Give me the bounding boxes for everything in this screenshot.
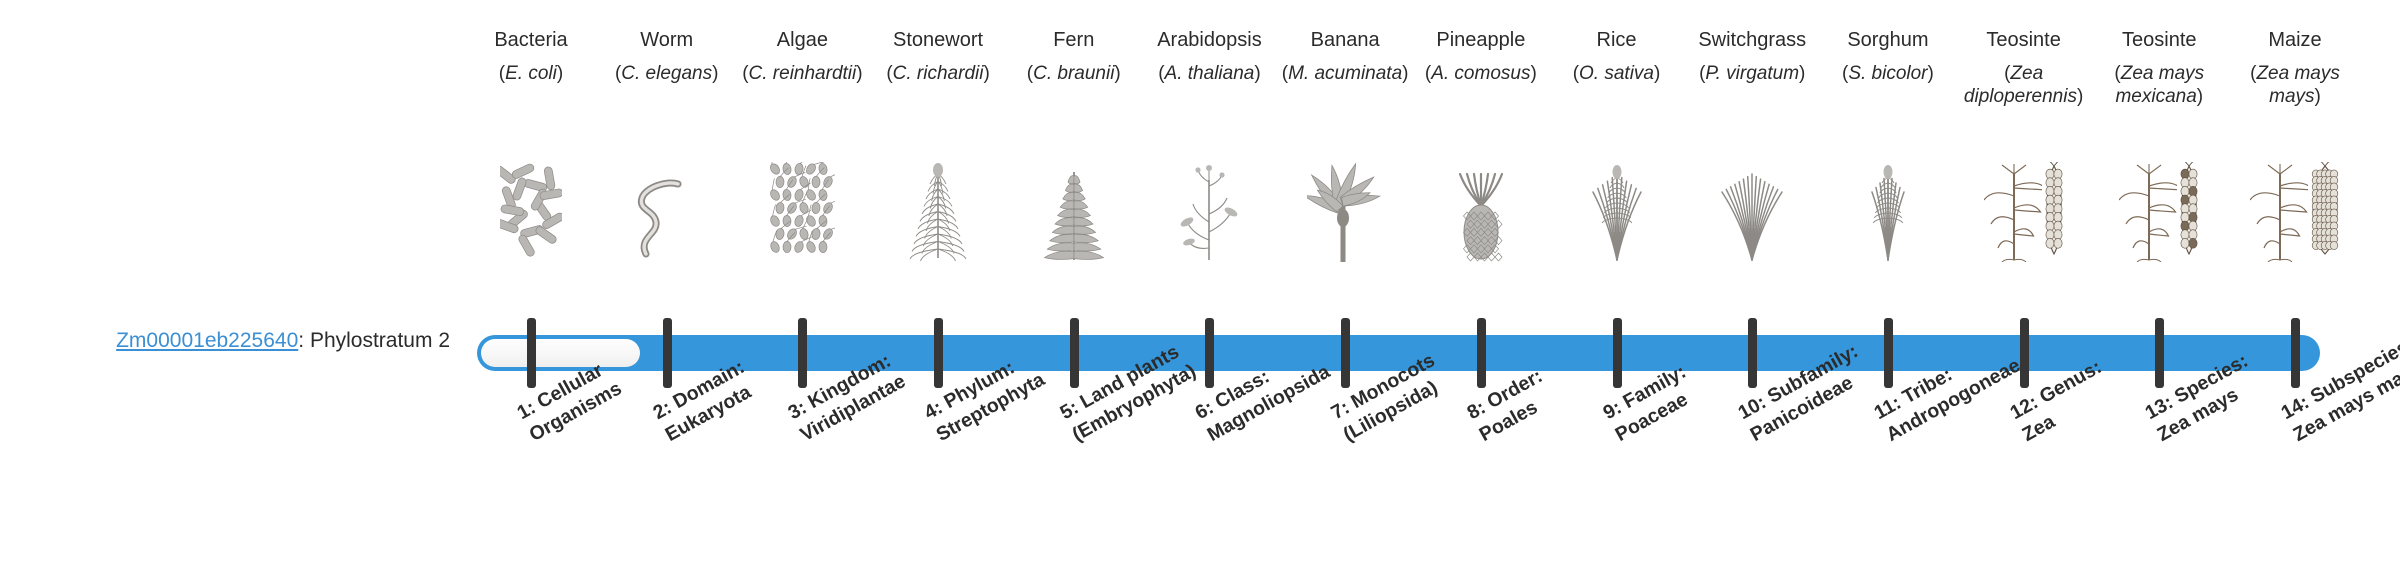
species-column-bacteria-1: Bacteria(E. coli)	[463, 28, 599, 85]
species-latin-name: (Zea mays mays)	[2227, 62, 2363, 108]
species-latin-text: O. sativa	[1579, 63, 1654, 84]
species-column-container: Bacteria(E. coli)Worm(C. elegans)Algae(C…	[0, 0, 2400, 580]
species-common-name: Algae	[734, 28, 870, 52]
species-column-rice-9: Rice(O. sativa)	[1549, 28, 1685, 85]
species-common-name: Rice	[1549, 28, 1685, 52]
phylostratum-timeline-figure: Zm00001eb225640: Phylostratum 2 Bacteria…	[0, 0, 2400, 580]
phylostratum-tick-2[interactable]	[663, 318, 672, 388]
species-common-name: Fern	[1006, 28, 1142, 52]
species-latin-text: C. elegans	[621, 63, 712, 84]
teosinte-mexicana-icon	[2091, 172, 2227, 262]
teosinte-diploperennis-icon	[1956, 172, 2092, 262]
maize-plant-icon	[2250, 162, 2308, 262]
phylostratum-tick-5[interactable]	[1070, 318, 1079, 388]
fern-icon	[1006, 172, 1142, 262]
maize-icon	[2227, 172, 2363, 262]
species-latin-text: Zea mays mays	[2256, 63, 2339, 107]
species-common-name: Maize	[2227, 28, 2363, 52]
species-common-name: Banana	[1277, 28, 1413, 52]
species-column-worm-2: Worm(C. elegans)	[599, 28, 735, 85]
species-common-name: Teosinte	[1956, 28, 2092, 52]
teosinte-plant-icon	[2119, 162, 2177, 262]
species-column-pineapple-8: Pineapple(A. comosus)	[1413, 28, 1549, 85]
species-latin-name: (C. elegans)	[599, 62, 735, 85]
species-common-name: Worm	[599, 28, 735, 52]
species-latin-name: (Zea mays mexicana)	[2091, 62, 2227, 108]
teosinte-ear-icon	[2044, 162, 2064, 262]
species-latin-name: (Zea diploperennis)	[1956, 62, 2092, 108]
species-latin-text: S. bicolor	[1848, 63, 1927, 84]
phylostratum-tick-8[interactable]	[1477, 318, 1486, 388]
species-latin-name: (S. bicolor)	[1820, 62, 1956, 85]
species-column-fern-5: Fern(C. braunii)	[1006, 28, 1142, 85]
species-latin-text: P. virgatum	[1705, 63, 1799, 84]
species-latin-text: C. richardii	[893, 63, 984, 84]
species-column-sorghum-11: Sorghum(S. bicolor)	[1820, 28, 1956, 85]
phylostratum-tick-3[interactable]	[798, 318, 807, 388]
species-latin-name: (C. reinhardtii)	[734, 62, 870, 85]
phylostratum-tick-9[interactable]	[1613, 318, 1622, 388]
banana-icon	[1277, 172, 1413, 262]
phylostratum-tick-12[interactable]	[2020, 318, 2029, 388]
switchgrass-icon	[1684, 172, 1820, 262]
phylostratum-tick-14[interactable]	[2291, 318, 2300, 388]
species-common-name: Pineapple	[1413, 28, 1549, 52]
species-latin-text: A. comosus	[1431, 63, 1530, 84]
species-latin-name: (E. coli)	[463, 62, 599, 85]
phylostratum-tick-7[interactable]	[1341, 318, 1350, 388]
species-latin-text: C. braunii	[1033, 63, 1114, 84]
arabidopsis-icon	[1141, 172, 1277, 262]
worm-icon	[599, 172, 735, 262]
phylostratum-tick-1[interactable]	[527, 318, 536, 388]
stonewort-icon	[870, 172, 1006, 262]
maize-ear-icon	[2310, 162, 2340, 262]
pineapple-icon	[1413, 172, 1549, 262]
species-column-teosinte-13: Teosinte(Zea mays mexicana)	[2091, 28, 2227, 108]
species-column-maize-14: Maize(Zea mays mays)	[2227, 28, 2363, 108]
species-latin-name: (P. virgatum)	[1684, 62, 1820, 85]
species-latin-name: (C. braunii)	[1006, 62, 1142, 85]
phylostratum-tick-11[interactable]	[1884, 318, 1893, 388]
species-common-name: Stonewort	[870, 28, 1006, 52]
species-latin-name: (A. comosus)	[1413, 62, 1549, 85]
phylostratum-tick-4[interactable]	[934, 318, 943, 388]
teosinte-ear-icon	[2179, 162, 2199, 262]
species-latin-text: Zea diploperennis	[1964, 63, 2077, 107]
bacteria-icon	[463, 172, 599, 262]
species-common-name: Teosinte	[2091, 28, 2227, 52]
species-latin-name: (C. richardii)	[870, 62, 1006, 85]
species-column-switchgrass-10: Switchgrass(P. virgatum)	[1684, 28, 1820, 85]
rice-icon	[1549, 172, 1685, 262]
species-column-algae-3: Algae(C. reinhardtii)	[734, 28, 870, 85]
algae-icon	[734, 172, 870, 262]
species-latin-name: (A. thaliana)	[1141, 62, 1277, 85]
species-column-teosinte-12: Teosinte(Zea diploperennis)	[1956, 28, 2092, 108]
species-latin-text: Zea mays mexicana	[2115, 63, 2204, 107]
phylostratum-tick-6[interactable]	[1205, 318, 1214, 388]
species-column-arabidopsis-6: Arabidopsis(A. thaliana)	[1141, 28, 1277, 85]
species-common-name: Bacteria	[463, 28, 599, 52]
species-column-stonewort-4: Stonewort(C. richardii)	[870, 28, 1006, 85]
sorghum-icon	[1820, 172, 1956, 262]
species-latin-name: (O. sativa)	[1549, 62, 1685, 85]
phylostratum-tick-10[interactable]	[1748, 318, 1757, 388]
species-latin-name: (M. acuminata)	[1277, 62, 1413, 85]
phylostratum-tick-13[interactable]	[2155, 318, 2164, 388]
species-common-name: Arabidopsis	[1141, 28, 1277, 52]
species-column-banana-7: Banana(M. acuminata)	[1277, 28, 1413, 85]
species-common-name: Sorghum	[1820, 28, 1956, 52]
species-latin-text: A. thaliana	[1165, 63, 1255, 84]
species-latin-text: M. acuminata	[1288, 63, 1402, 84]
species-common-name: Switchgrass	[1684, 28, 1820, 52]
teosinte-plant-icon	[1984, 162, 2042, 262]
species-latin-text: E. coli	[505, 63, 557, 84]
species-latin-text: C. reinhardtii	[749, 63, 857, 84]
